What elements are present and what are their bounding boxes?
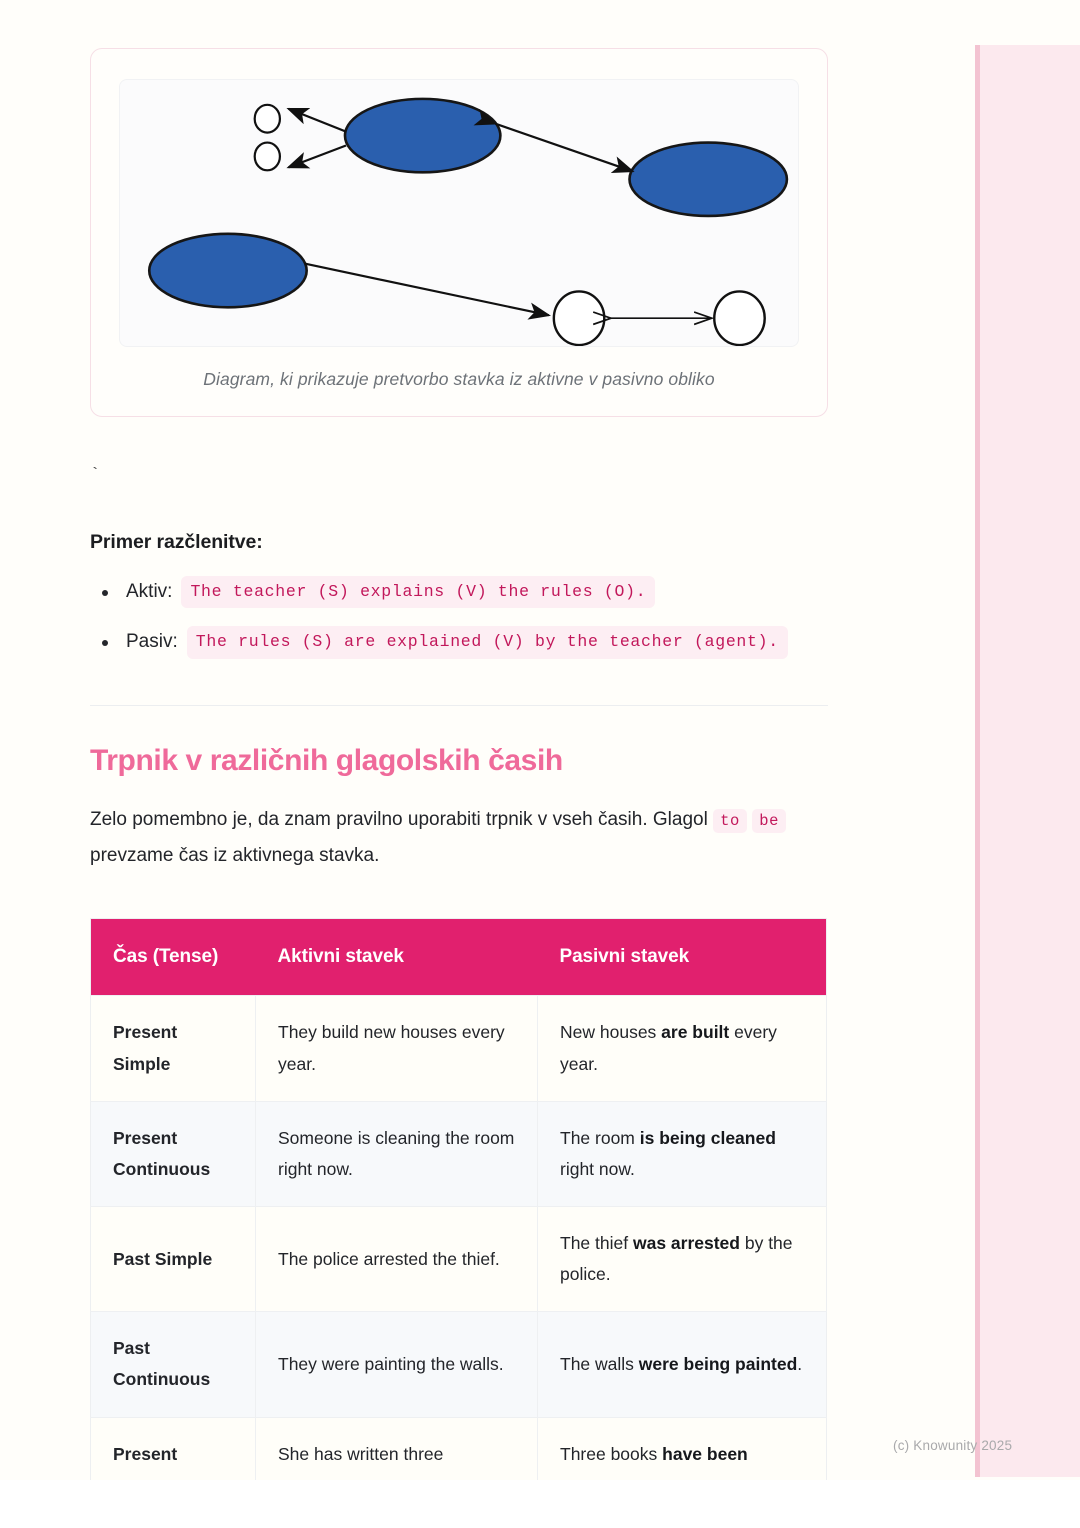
diagram-node-small-circle-2 bbox=[255, 143, 280, 171]
decorative-pink-band bbox=[975, 45, 1080, 1477]
diagram-figure-card: Diagram, ki prikazuje pretvorbo stavka i… bbox=[90, 48, 828, 417]
table-row: Present Simple They build new houses eve… bbox=[91, 996, 827, 1101]
table-row: Present Continuous Someone is cleaning t… bbox=[91, 1101, 827, 1206]
cell-active: The police arrested the thief. bbox=[256, 1207, 538, 1312]
column-header-active: Aktivni stavek bbox=[256, 919, 538, 996]
table-row: Past Continuous They were painting the w… bbox=[91, 1312, 827, 1417]
inline-code-to: to bbox=[713, 809, 747, 833]
cell-active: Someone is cleaning the room right now. bbox=[256, 1101, 538, 1206]
diagram-node-blue-3 bbox=[149, 234, 306, 307]
paragraph-text-part2: prevzame čas iz aktivnega stavka. bbox=[90, 845, 379, 866]
section-divider bbox=[90, 705, 828, 706]
diagram-arrow-3 bbox=[495, 124, 632, 172]
diagram-arrow-2 bbox=[288, 146, 346, 168]
section-paragraph: Zelo pomembno je, da znam pravilno upora… bbox=[90, 802, 828, 875]
passive-bold: is being cleaned bbox=[640, 1128, 776, 1148]
figure-caption: Diagram, ki prikazuje pretvorbo stavka i… bbox=[119, 369, 799, 390]
example-label-passive: Pasiv: bbox=[126, 628, 178, 657]
tense-comparison-table: Čas (Tense) Aktivni stavek Pasivni stave… bbox=[90, 918, 827, 1491]
list-item: Aktiv: The teacher (S) explains (V) the … bbox=[90, 576, 828, 608]
example-code-active: The teacher (S) explains (V) the rules (… bbox=[181, 576, 655, 608]
passive-post: . bbox=[797, 1354, 802, 1374]
diagram-node-small-circle-1 bbox=[255, 105, 280, 133]
passive-bold: are built bbox=[661, 1022, 729, 1042]
page-title: Trpnik v različnih glagolskih časih bbox=[90, 744, 828, 778]
column-header-tense: Čas (Tense) bbox=[91, 919, 256, 996]
paragraph-text-part1: Zelo pomembno je, da znam pravilno upora… bbox=[90, 809, 708, 830]
passive-bold: were being painted bbox=[639, 1354, 798, 1374]
cell-passive: New houses are built every year. bbox=[538, 996, 827, 1101]
passive-bold: was arrested bbox=[633, 1233, 740, 1253]
passive-pre: The walls bbox=[560, 1354, 639, 1374]
cell-tense: Present Simple bbox=[91, 996, 256, 1101]
diagram-arrow-1 bbox=[288, 109, 346, 132]
copyright-watermark: (c) Knowunity 2025 bbox=[893, 1438, 1012, 1453]
diagram-node-blue-1 bbox=[345, 99, 500, 172]
cell-tense: Past Continuous bbox=[91, 1312, 256, 1417]
passive-pre: The thief bbox=[560, 1233, 633, 1253]
cell-passive: The room is being cleaned right now. bbox=[538, 1101, 827, 1206]
active-to-passive-diagram-icon bbox=[120, 80, 798, 346]
diagram-canvas bbox=[119, 79, 799, 347]
table-header-row: Čas (Tense) Aktivni stavek Pasivni stave… bbox=[91, 919, 827, 996]
passive-pre: The room bbox=[560, 1128, 640, 1148]
cell-active: They build new houses every year. bbox=[256, 996, 538, 1101]
example-code-passive: The rules (S) are explained (V) by the t… bbox=[187, 626, 788, 658]
document-page: Diagram, ki prikazuje pretvorbo stavka i… bbox=[0, 0, 1080, 1480]
table-row: Past Simple The police arrested the thie… bbox=[91, 1207, 827, 1312]
diagram-node-circle-3 bbox=[554, 291, 604, 345]
content-column: Diagram, ki prikazuje pretvorbo stavka i… bbox=[90, 0, 828, 1492]
passive-pre: New houses bbox=[560, 1022, 661, 1042]
page-bottom-gap bbox=[0, 1480, 1080, 1528]
cell-passive: The walls were being painted. bbox=[538, 1312, 827, 1417]
examples-heading: Primer razčlenitve: bbox=[90, 531, 828, 554]
stray-backtick-text: ` bbox=[90, 469, 828, 483]
passive-post: right now. bbox=[560, 1159, 635, 1179]
list-item: Pasiv: The rules (S) are explained (V) b… bbox=[90, 626, 828, 658]
cell-tense: Present Continuous bbox=[91, 1101, 256, 1206]
inline-code-be: be bbox=[752, 809, 786, 833]
example-label-active: Aktiv: bbox=[126, 578, 172, 607]
cell-active: They were painting the walls. bbox=[256, 1312, 538, 1417]
passive-pre: Three books bbox=[560, 1444, 662, 1464]
examples-list: Aktiv: The teacher (S) explains (V) the … bbox=[90, 576, 828, 659]
diagram-node-circle-4 bbox=[714, 291, 764, 345]
diagram-arrow-4 bbox=[305, 264, 549, 316]
column-header-passive: Pasivni stavek bbox=[538, 919, 827, 996]
diagram-node-blue-2 bbox=[630, 143, 787, 216]
passive-bold: have been bbox=[662, 1444, 748, 1464]
cell-tense: Past Simple bbox=[91, 1207, 256, 1312]
cell-passive: The thief was arrested by the police. bbox=[538, 1207, 827, 1312]
